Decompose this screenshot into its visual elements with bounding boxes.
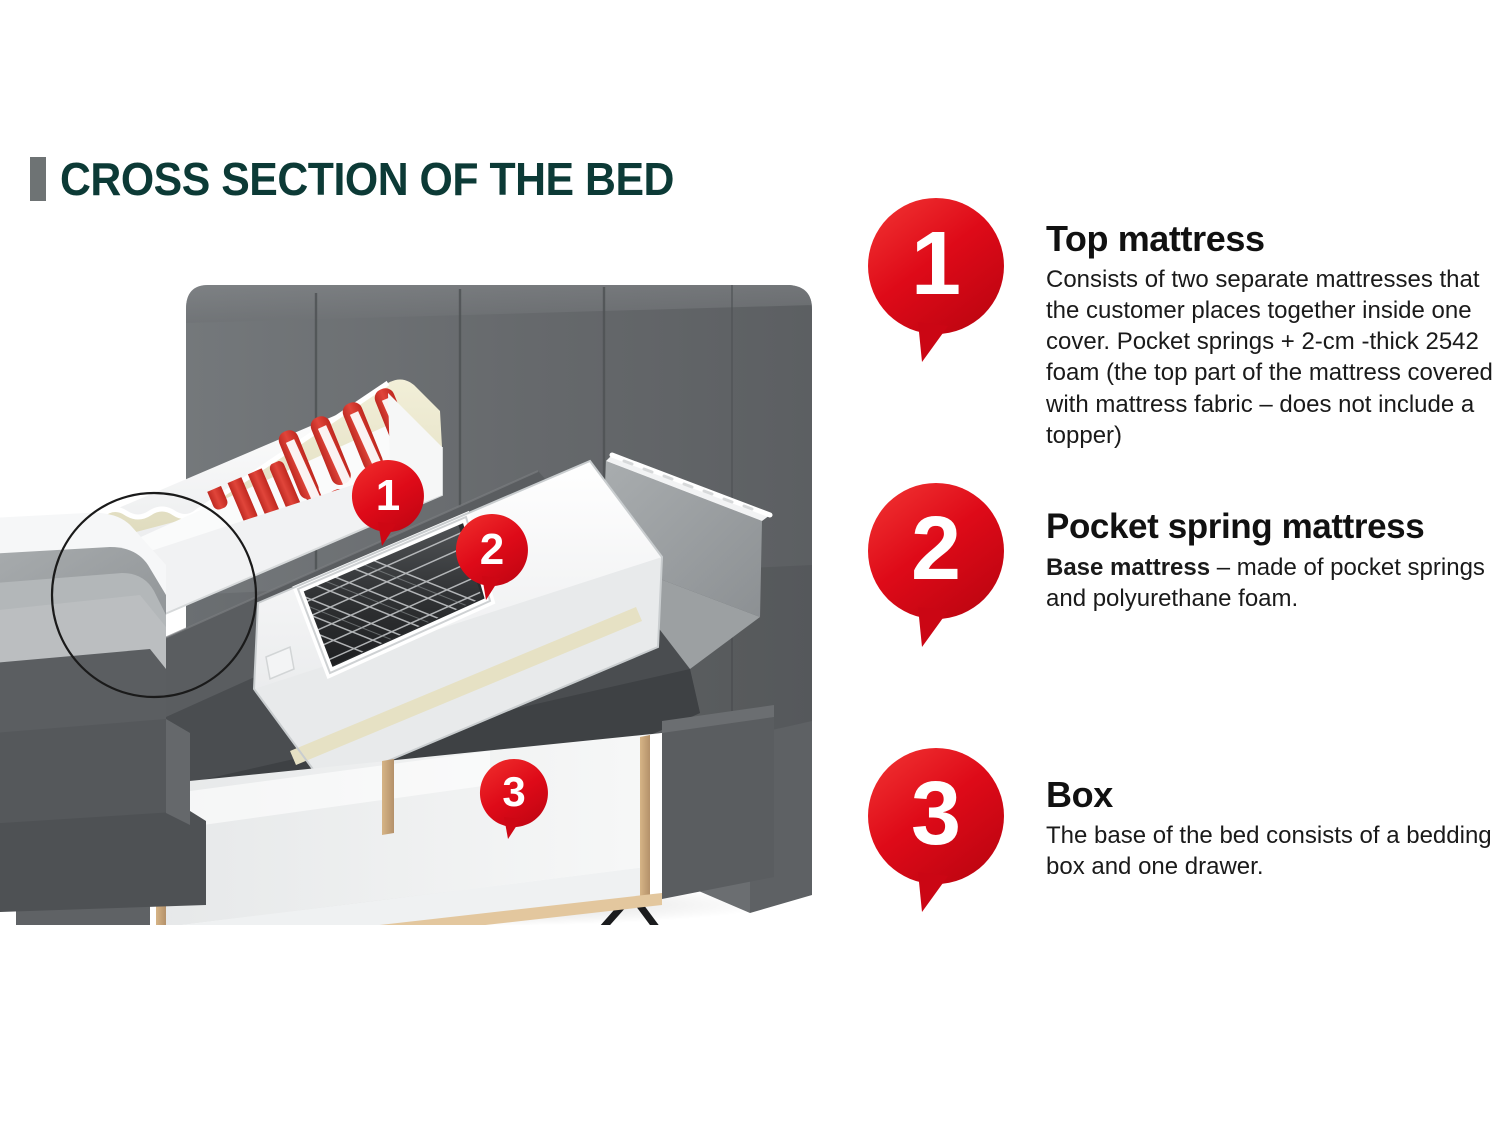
legend-heading-2: Pocket spring mattress xyxy=(1046,509,1500,546)
legend-heading-1: Top mattress xyxy=(1046,220,1500,258)
legend-list: 1 Top mattress Consists of two separate … xyxy=(866,196,1500,926)
legend-pin-2[interactable]: 2 xyxy=(866,481,1012,653)
legend-text-2: Pocket spring mattress Base mattress – m… xyxy=(1012,481,1500,614)
legend-text-1: Top mattress Consists of two separate ma… xyxy=(1012,196,1500,451)
legend-body-2: Base mattress – made of pocket springs a… xyxy=(1046,552,1500,614)
legend-body-3: The base of the bed consists of a beddin… xyxy=(1046,820,1500,882)
illustration-marker-1-label: 1 xyxy=(376,471,400,520)
legend-pin-1-number: 1 xyxy=(911,214,961,314)
illustration-marker-2-label: 2 xyxy=(480,525,504,574)
legend-body-1: Consists of two separate mattresses that… xyxy=(1046,264,1500,451)
legend-text-3: Box The base of the bed consists of a be… xyxy=(1012,746,1500,882)
illustration-marker-3-label: 3 xyxy=(502,768,525,815)
page-title-text: CROSS SECTION OF THE BED xyxy=(60,152,674,206)
legend-pin-2-number: 2 xyxy=(911,499,961,599)
title-accent-bar xyxy=(30,157,46,201)
legend-item-box: 3 Box The base of the bed consists of a … xyxy=(866,746,1500,926)
legend-pin-1[interactable]: 1 xyxy=(866,196,1012,368)
infographic-canvas: CROSS SECTION OF THE BED xyxy=(0,0,1500,1125)
legend-pin-3-number: 3 xyxy=(911,764,961,864)
bed-cross-section-illustration: 1 2 3 xyxy=(0,265,850,925)
legend-item-pocket-spring-mattress: 2 Pocket spring mattress Base mattress –… xyxy=(866,481,1500,746)
legend-heading-3: Box xyxy=(1046,776,1500,814)
legend-body-2-strong: Base mattress xyxy=(1046,554,1210,581)
legend-item-top-mattress: 1 Top mattress Consists of two separate … xyxy=(866,196,1500,481)
page-title: CROSS SECTION OF THE BED xyxy=(30,152,720,206)
legend-pin-3[interactable]: 3 xyxy=(866,746,1012,918)
